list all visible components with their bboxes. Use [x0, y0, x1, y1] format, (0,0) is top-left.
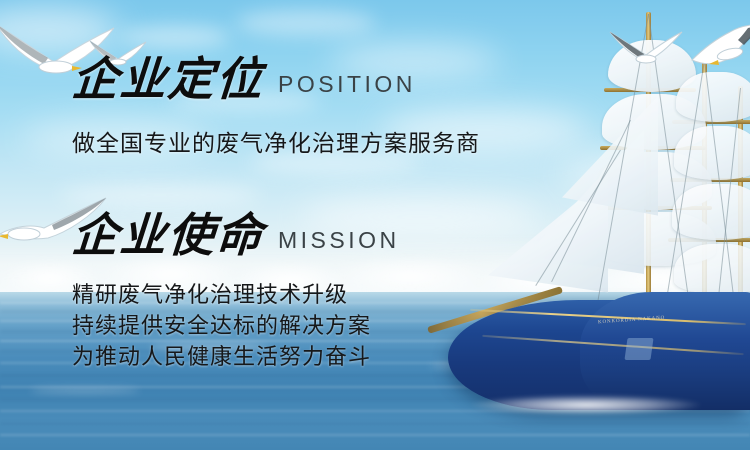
mission-statement-list: 精研废气净化治理技术升级 持续提供安全达标的解决方案 为推动人民健康生活努力奋斗 — [72, 280, 400, 373]
company-position-mission-banner: KONKORDIA NAKANO — [0, 0, 750, 450]
mission-title-en: MISSION — [278, 227, 400, 254]
mission-line: 持续提供安全达标的解决方案 — [72, 311, 400, 342]
position-title-cn: 企业定位 — [70, 56, 265, 102]
mission-title-cn: 企业使命 — [70, 212, 265, 258]
position-subtitle: 做全国专业的废气净化治理方案服务商 — [72, 124, 480, 158]
position-headline: 企业定位 POSITION — [72, 56, 480, 102]
position-section: 企业定位 POSITION 做全国专业的废气净化治理方案服务商 — [72, 56, 480, 158]
mission-line: 精研废气净化治理技术升级 — [72, 280, 400, 311]
position-title-en: POSITION — [278, 71, 416, 98]
banner-text-layer: 企业定位 POSITION 做全国专业的废气净化治理方案服务商 企业使命 MIS… — [0, 0, 750, 450]
mission-line: 为推动人民健康生活努力奋斗 — [72, 342, 400, 373]
mission-headline: 企业使命 MISSION — [72, 212, 400, 258]
mission-section: 企业使命 MISSION 精研废气净化治理技术升级 持续提供安全达标的解决方案 … — [72, 212, 400, 373]
